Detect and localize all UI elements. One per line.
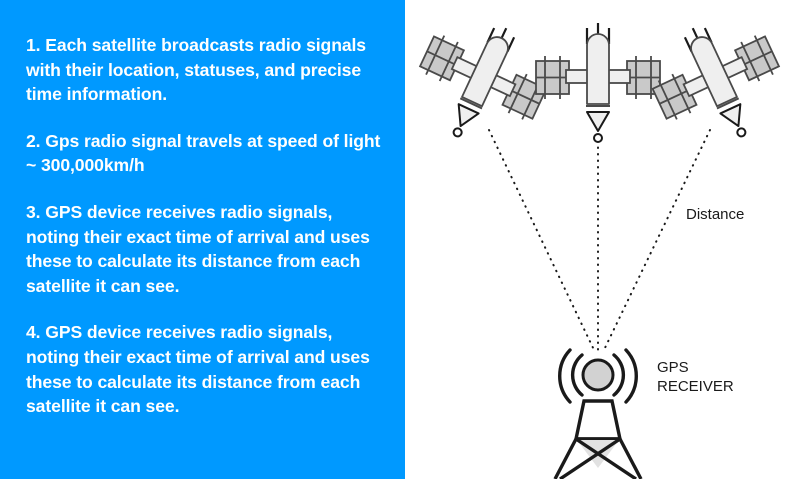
gps-diagram <box>405 0 800 479</box>
signal-path-left <box>489 130 595 352</box>
signal-path-right <box>603 130 710 352</box>
step-item-1: 1. Each satellite broadcasts radio signa… <box>26 33 388 107</box>
receiver-arc-left-inner <box>573 355 582 395</box>
tower-leg-left <box>555 439 576 479</box>
receiver-arc-right-inner <box>614 355 623 395</box>
steps-list: 1. Each satellite broadcasts radio signa… <box>26 33 388 419</box>
signal-paths <box>489 128 710 352</box>
step-item-4: 4. GPS device receives radio signals, no… <box>26 320 388 418</box>
tower-leg-right <box>620 439 641 479</box>
receiver-arc-right-outer <box>626 350 636 402</box>
steps-panel: 1. Each satellite broadcasts radio signa… <box>0 0 405 479</box>
satellite-right <box>637 2 800 162</box>
receiver-arc-left-outer <box>560 350 570 402</box>
step-item-3: 3. GPS device receives radio signals, no… <box>26 200 388 298</box>
receiver-hub <box>583 360 613 390</box>
gps-receiver-tower <box>555 350 641 479</box>
satellite-middle <box>536 23 660 142</box>
gps-receiver-label: GPS RECEIVER <box>657 358 734 396</box>
tower-upper <box>576 401 620 439</box>
gps-infographic: 1. Each satellite broadcasts radio signa… <box>0 0 800 479</box>
step-item-2: 2. Gps radio signal travels at speed of … <box>26 129 388 178</box>
distance-label: Distance <box>686 205 744 224</box>
